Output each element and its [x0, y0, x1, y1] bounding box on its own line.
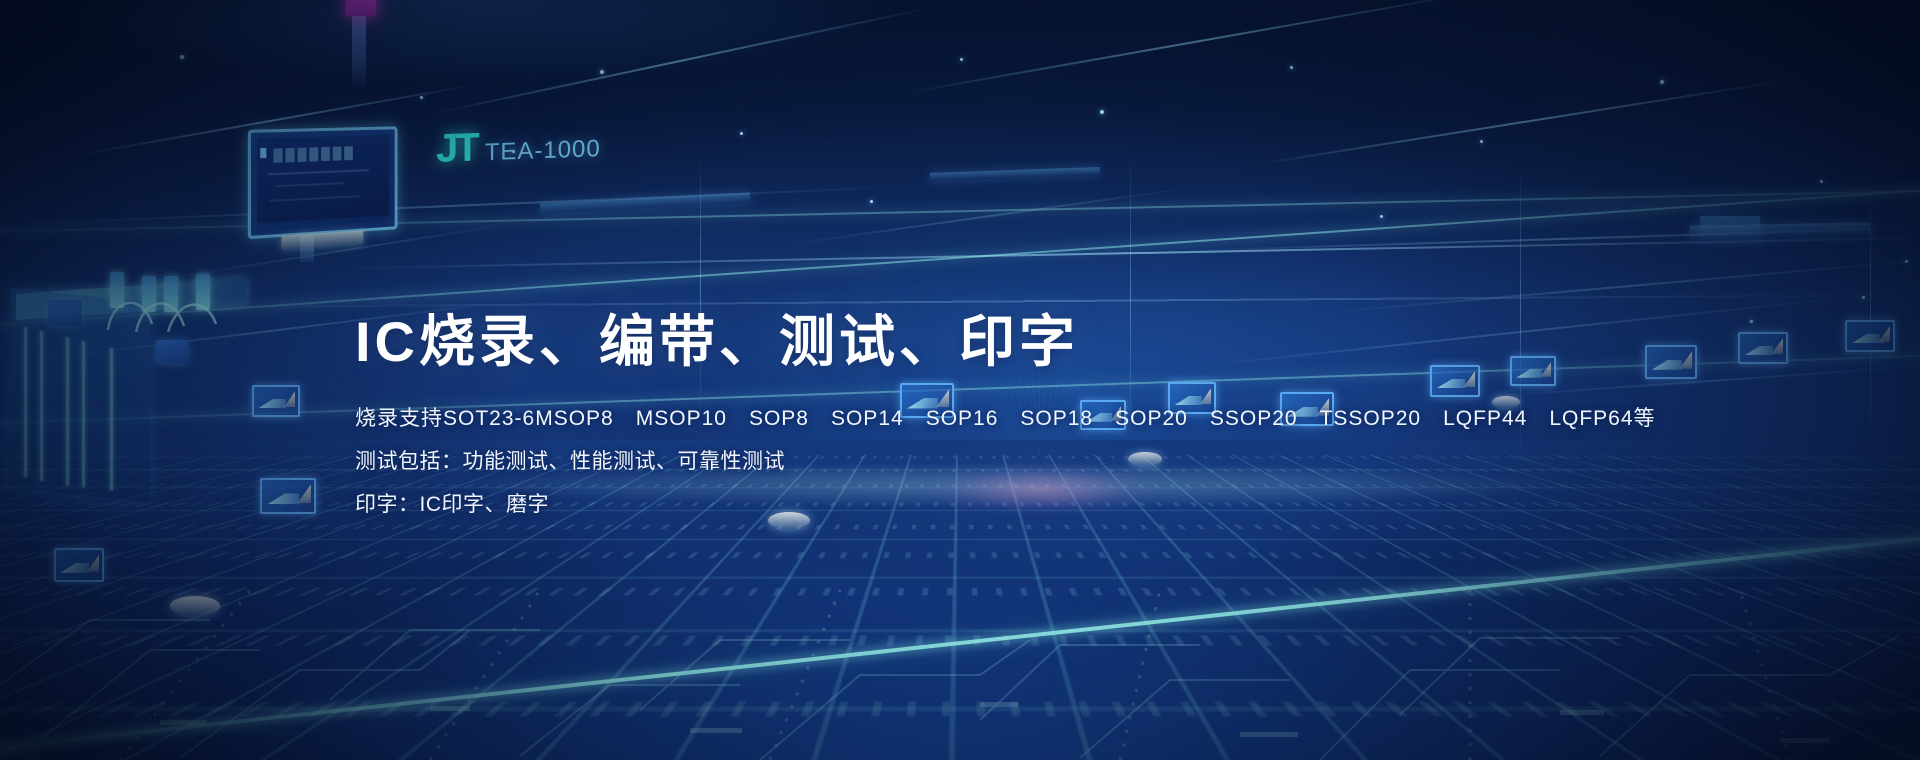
package-item: MSOP8 [535, 408, 614, 429]
page-title: IC烧录、编带、测试、印字 [355, 310, 1615, 374]
package-item: SOP8 [749, 408, 809, 429]
package-item: MSOP10 [636, 408, 727, 429]
package-item: SSOP20 [1210, 408, 1298, 429]
burn-support-prefix: 烧录支持SOT23-6 [355, 408, 535, 429]
marking-scope-line: 印字：IC印字、磨字 [355, 494, 1615, 515]
ic-services-banner: JT TEA-1000 IC烧录、编带、测试、印字 烧录支持SOT23-6MSO… [0, 0, 1920, 760]
test-scope-line: 测试包括：功能测试、性能测试、可靠性测试 [355, 451, 1615, 472]
burn-support-line: 烧录支持SOT23-6MSOP8MSOP10SOP8SOP14SOP16SOP1… [355, 408, 1615, 429]
package-item: LQFP64等 [1549, 408, 1655, 429]
package-item: SOP18 [1020, 408, 1093, 429]
package-item: SOP14 [831, 408, 904, 429]
package-item: LQFP44 [1443, 408, 1527, 429]
package-item: SOP20 [1115, 408, 1188, 429]
package-list: MSOP8MSOP10SOP8SOP14SOP16SOP18SOP20SSOP2… [535, 407, 1655, 430]
package-item: TSSOP20 [1320, 408, 1422, 429]
banner-text-block: IC烧录、编带、测试、印字 烧录支持SOT23-6MSOP8MSOP10SOP8… [355, 310, 1615, 537]
package-item: SOP16 [926, 408, 999, 429]
